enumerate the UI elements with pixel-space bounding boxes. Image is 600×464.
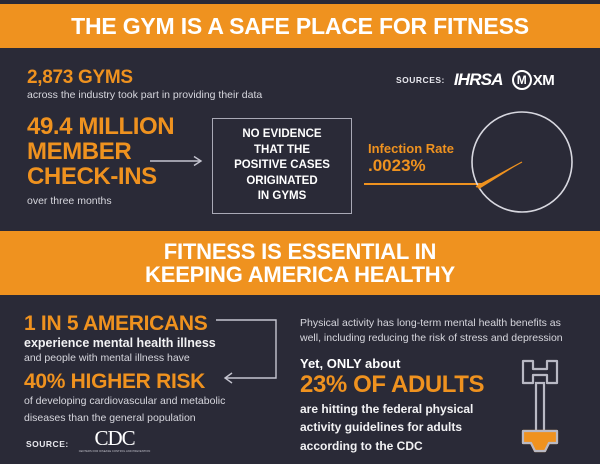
no-evidence-box: NO EVIDENCE THAT THE POSITIVE CASES ORIG… xyxy=(212,118,352,214)
infection-rate-pie-chart xyxy=(470,110,574,214)
stat-23-percent-value: 23% OF ADULTS xyxy=(300,373,515,398)
cdc-logo-tagline: CENTERS FOR DISEASE CONTROL AND PREVENTI… xyxy=(79,450,151,453)
cdc-logo-text: CDC xyxy=(94,428,134,449)
stat-23-detail-line1: are hitting the federal physical xyxy=(300,402,515,417)
infection-rate-label: Infection Rate .0023% xyxy=(368,142,476,176)
mid-banner: FITNESS IS ESSENTIAL IN KEEPING AMERICA … xyxy=(0,231,600,295)
stat-checkins-line1: 49.4 MILLION xyxy=(27,115,207,140)
stat-checkins-description: over three months xyxy=(27,195,207,209)
stat-23-percent: Yet, ONLY about 23% OF ADULTS are hittin… xyxy=(300,356,515,453)
connector-arrow-icon xyxy=(216,316,282,386)
cdc-source-block: SOURCE: CDC CENTERS FOR DISEASE CONTROL … xyxy=(26,428,150,453)
no-evidence-line1: NO EVIDENCE xyxy=(234,127,330,142)
stat-40-percent-line2: diseases than the general population xyxy=(24,412,289,426)
stat-23-detail-line2: activity guidelines for adults xyxy=(300,420,515,435)
stat-23-detail-line3: according to the CDC xyxy=(300,439,515,454)
physical-activity-note: Physical activity has long-term mental h… xyxy=(300,316,582,346)
mxm-circle-letter: M xyxy=(512,70,532,90)
stat-gyms: 2,873 GYMS across the industry took part… xyxy=(27,68,287,103)
infection-rate-value: .0023% xyxy=(368,156,476,176)
mxm-logo: M XM xyxy=(512,70,555,90)
no-evidence-line5: IN GYMS xyxy=(234,189,330,204)
stat-gyms-value: 2,873 GYMS xyxy=(27,68,287,87)
no-evidence-line2: THAT THE xyxy=(234,143,330,158)
cdc-logo: CDC CENTERS FOR DISEASE CONTROL AND PREV… xyxy=(79,428,151,453)
sources-label: SOURCES: xyxy=(396,75,445,85)
no-evidence-text: NO EVIDENCE THAT THE POSITIVE CASES ORIG… xyxy=(234,127,330,204)
sources-block: SOURCES: IHRSA M XM xyxy=(396,70,554,90)
stat-gyms-description: across the industry took part in providi… xyxy=(27,89,287,103)
no-evidence-line3: POSITIVE CASES xyxy=(234,158,330,173)
cdc-source-label: SOURCE: xyxy=(26,439,69,453)
infection-rate-title: Infection Rate xyxy=(368,142,476,156)
top-banner-title: THE GYM IS A SAFE PLACE FOR FITNESS xyxy=(71,14,529,38)
mid-banner-title: FITNESS IS ESSENTIAL IN KEEPING AMERICA … xyxy=(145,240,455,287)
infection-rate-underline xyxy=(364,183,482,185)
stat-40-percent-line1: of developing cardiovascular and metabol… xyxy=(24,395,289,409)
arrow-right-icon xyxy=(150,155,208,167)
ihrsa-logo: IHRSA xyxy=(454,70,503,90)
mid-banner-line2: KEEPING AMERICA HEALTHY xyxy=(145,263,455,286)
no-evidence-line4: ORIGINATED xyxy=(234,174,330,189)
mid-banner-line1: FITNESS IS ESSENTIAL IN xyxy=(145,240,455,263)
yet-only-lead: Yet, ONLY about xyxy=(300,356,515,372)
stat-checkins-line3: CHECK-INS xyxy=(27,165,207,190)
top-banner: THE GYM IS A SAFE PLACE FOR FITNESS xyxy=(0,4,600,48)
dumbbell-icon xyxy=(505,357,575,457)
infographic-page: THE GYM IS A SAFE PLACE FOR FITNESS 2,87… xyxy=(0,0,600,464)
mxm-rest-letters: XM xyxy=(533,72,555,89)
